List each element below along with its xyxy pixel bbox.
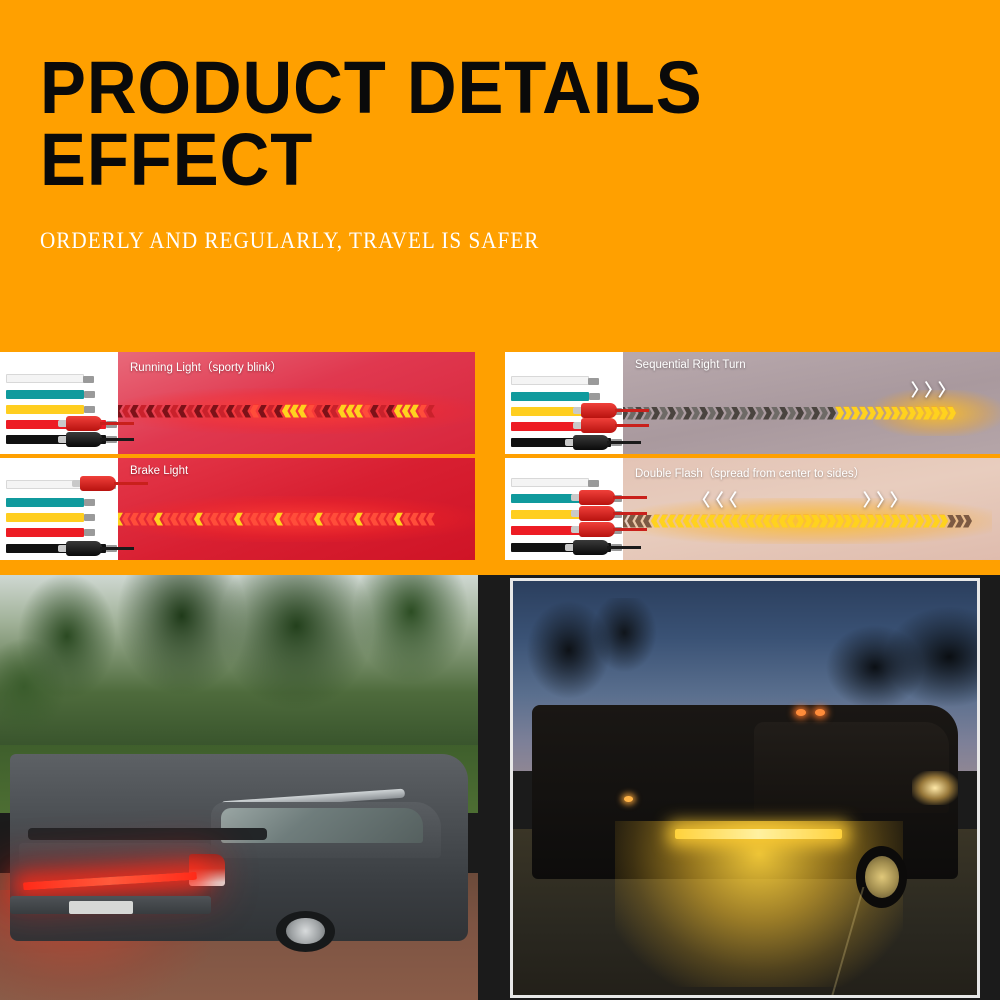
led-chevron bbox=[867, 515, 876, 528]
alligator-clip-red-2 bbox=[573, 418, 617, 433]
led-chevron bbox=[923, 407, 932, 420]
led-chevron bbox=[811, 407, 820, 420]
led-chevron bbox=[683, 515, 692, 528]
photo-pickup-tailgate-red bbox=[0, 575, 478, 1000]
wire-tip bbox=[84, 406, 95, 413]
led-chevron bbox=[290, 513, 299, 526]
led-chevron bbox=[386, 405, 395, 418]
led-chevron bbox=[274, 513, 283, 526]
led-chevron bbox=[178, 405, 187, 418]
led-chevron bbox=[675, 515, 684, 528]
effect-scene-brake-light: Brake Light bbox=[118, 458, 475, 560]
alligator-clip-red-1 bbox=[571, 490, 615, 505]
led-chevron bbox=[242, 405, 251, 418]
wire-yellow bbox=[6, 405, 84, 414]
led-chevron bbox=[162, 513, 171, 526]
led-chevron bbox=[338, 513, 347, 526]
led-chevron bbox=[330, 513, 339, 526]
led-chevron bbox=[931, 407, 940, 420]
led-chevron bbox=[875, 407, 884, 420]
panel-sequential-right-turn[interactable]: Sequential Right Turn 〉〉〉 bbox=[505, 352, 1000, 454]
led-chevron bbox=[723, 407, 732, 420]
led-chevron bbox=[370, 405, 379, 418]
wire-tip bbox=[588, 480, 599, 487]
led-chevron bbox=[122, 513, 131, 526]
led-chevron bbox=[394, 405, 403, 418]
led-chevron bbox=[298, 513, 307, 526]
truck-body bbox=[10, 754, 469, 941]
panel-label-brake-light: Brake Light bbox=[130, 465, 188, 477]
led-chevron bbox=[819, 407, 828, 420]
photo-truck-underglow-amber bbox=[510, 578, 980, 998]
led-chevron bbox=[771, 407, 780, 420]
led-chevron bbox=[194, 405, 203, 418]
led-chevron bbox=[931, 515, 940, 528]
led-chevron bbox=[330, 405, 339, 418]
wire-tip bbox=[84, 499, 95, 506]
led-chevron bbox=[170, 513, 179, 526]
led-chevron bbox=[202, 405, 211, 418]
led-chevron bbox=[346, 405, 355, 418]
led-chevron bbox=[843, 407, 852, 420]
wire-tip bbox=[84, 514, 95, 521]
led-chevron bbox=[418, 513, 427, 526]
effect-scene-double-flash: Double Flash（spread from center to sides… bbox=[623, 458, 1000, 560]
led-chevron bbox=[659, 515, 668, 528]
led-chevron bbox=[747, 407, 756, 420]
wire-yellow bbox=[6, 513, 84, 522]
led-chevron bbox=[242, 513, 251, 526]
page-title: PRODUCT DETAILS EFFECT bbox=[40, 52, 940, 196]
led-chevron bbox=[963, 515, 972, 528]
led-chevron bbox=[162, 405, 171, 418]
led-chevron bbox=[835, 515, 844, 528]
led-chevron bbox=[122, 405, 131, 418]
led-chevron bbox=[354, 513, 363, 526]
led-chevron bbox=[803, 407, 812, 420]
panel-column-left: Running Light（sporty blink） Brake Light bbox=[0, 352, 475, 560]
led-chevron bbox=[314, 405, 323, 418]
led-chevron bbox=[402, 405, 411, 418]
wire-white bbox=[511, 478, 589, 487]
page-subtitle: ORDERLY AND REGULARLY, TRAVEL IS SAFER bbox=[40, 228, 539, 254]
direction-arrows-left: 〈〈〈 bbox=[693, 486, 742, 511]
led-chevron bbox=[138, 405, 147, 418]
led-chevron bbox=[426, 513, 435, 526]
direction-arrows-right: 〉〉〉 bbox=[863, 486, 912, 511]
roof-marker-light-2 bbox=[815, 709, 825, 716]
wire-tip bbox=[588, 378, 599, 385]
truck-tailgate bbox=[19, 843, 212, 899]
led-chevron bbox=[258, 405, 267, 418]
led-chevron bbox=[699, 515, 708, 528]
led-chevron bbox=[186, 405, 195, 418]
led-chevron bbox=[947, 407, 956, 420]
led-chevron bbox=[907, 407, 916, 420]
led-light-bar-amber bbox=[675, 829, 842, 839]
led-chevron bbox=[955, 515, 964, 528]
led-chevron bbox=[186, 513, 195, 526]
led-chevron bbox=[891, 515, 900, 528]
led-chevron bbox=[851, 515, 860, 528]
led-chevron bbox=[835, 407, 844, 420]
led-chevron bbox=[699, 407, 708, 420]
led-chevron bbox=[282, 405, 291, 418]
led-chevron bbox=[779, 515, 788, 528]
led-chevron bbox=[282, 513, 291, 526]
led-chevron bbox=[811, 515, 820, 528]
led-chevron bbox=[771, 515, 780, 528]
headlight-glow bbox=[912, 771, 958, 804]
side-marker-light bbox=[624, 796, 632, 802]
panel-column-right: Sequential Right Turn 〉〉〉 Double Flash（s… bbox=[505, 352, 1000, 560]
wire-tip bbox=[589, 393, 600, 400]
led-chevron bbox=[274, 405, 283, 418]
led-strip-sequential bbox=[623, 404, 996, 422]
led-chevron bbox=[635, 515, 644, 528]
led-chevron bbox=[426, 405, 435, 418]
panel-label-running-light: Running Light（sporty blink） bbox=[130, 359, 282, 375]
wire-tip bbox=[83, 376, 94, 383]
wire-red bbox=[6, 528, 84, 537]
led-strip-double-flash bbox=[623, 512, 996, 530]
led-chevron bbox=[667, 515, 676, 528]
wire-teal bbox=[511, 392, 589, 401]
photo-gallery bbox=[0, 575, 1000, 1000]
led-chevron bbox=[234, 405, 243, 418]
led-chevron bbox=[891, 407, 900, 420]
led-chevron bbox=[266, 513, 275, 526]
led-chevron bbox=[843, 515, 852, 528]
led-chevron bbox=[939, 515, 948, 528]
wheel-rim bbox=[865, 856, 900, 898]
led-chevron bbox=[386, 513, 395, 526]
led-chevron bbox=[258, 513, 267, 526]
wire-white bbox=[511, 376, 589, 385]
led-chevron bbox=[763, 515, 772, 528]
led-chevron bbox=[250, 405, 259, 418]
led-chevron bbox=[731, 407, 740, 420]
led-chevron bbox=[779, 407, 788, 420]
led-chevron bbox=[154, 405, 163, 418]
led-chevron bbox=[659, 407, 668, 420]
led-chevron bbox=[266, 405, 275, 418]
led-chevron bbox=[146, 405, 155, 418]
led-chevron bbox=[402, 513, 411, 526]
alligator-clip-red-3 bbox=[571, 522, 615, 537]
led-chevron bbox=[130, 405, 139, 418]
alligator-clip-red bbox=[72, 476, 116, 491]
led-chevron bbox=[178, 513, 187, 526]
header-banner: PRODUCT DETAILS EFFECT ORDERLY AND REGUL… bbox=[0, 0, 1000, 340]
led-chevron bbox=[250, 513, 259, 526]
led-chevron bbox=[202, 513, 211, 526]
wire-teal bbox=[6, 498, 84, 507]
led-chevron bbox=[739, 407, 748, 420]
title-line-1: PRODUCT DETAILS bbox=[40, 52, 877, 124]
led-chevron bbox=[651, 407, 660, 420]
led-chevron bbox=[322, 513, 331, 526]
led-chevron bbox=[194, 513, 203, 526]
alligator-clip-red-2 bbox=[571, 506, 615, 521]
led-chevron bbox=[923, 515, 932, 528]
led-chevron bbox=[675, 407, 684, 420]
led-chevron bbox=[394, 513, 403, 526]
led-chevron bbox=[362, 513, 371, 526]
led-chevron bbox=[707, 515, 716, 528]
led-strip-brake bbox=[118, 510, 471, 528]
led-chevron bbox=[314, 513, 323, 526]
direction-arrows-right: 〉〉〉 bbox=[911, 376, 960, 401]
led-chevron bbox=[755, 407, 764, 420]
led-chevron bbox=[683, 407, 692, 420]
led-chevron bbox=[306, 513, 315, 526]
led-chevron bbox=[234, 513, 243, 526]
effect-panel-grid: Running Light（sporty blink） Brake Light bbox=[0, 352, 1000, 560]
wire-tip bbox=[84, 529, 95, 536]
led-chevron bbox=[947, 515, 956, 528]
led-chevron bbox=[346, 513, 355, 526]
led-chevron bbox=[418, 405, 427, 418]
led-chevron bbox=[787, 515, 796, 528]
alligator-clip-black bbox=[58, 432, 102, 447]
led-chevron bbox=[130, 513, 139, 526]
led-chevron bbox=[851, 407, 860, 420]
led-chevron bbox=[787, 407, 796, 420]
panel-brake-light[interactable]: Brake Light bbox=[0, 458, 475, 560]
led-chevron bbox=[859, 407, 868, 420]
led-chevron bbox=[226, 405, 235, 418]
led-chevron bbox=[715, 515, 724, 528]
led-chevron bbox=[226, 513, 235, 526]
led-chevron bbox=[154, 513, 163, 526]
led-chevron bbox=[290, 405, 299, 418]
led-chevron bbox=[218, 513, 227, 526]
led-chevron bbox=[146, 513, 155, 526]
led-chevron bbox=[138, 513, 147, 526]
led-strip-running bbox=[118, 402, 471, 420]
led-chevron bbox=[410, 405, 419, 418]
wheel-rim bbox=[286, 918, 324, 944]
truck-taillight bbox=[189, 854, 226, 886]
wire-teal bbox=[6, 390, 84, 399]
wire-tip bbox=[84, 391, 95, 398]
led-chevron bbox=[803, 515, 812, 528]
led-chevron bbox=[859, 515, 868, 528]
led-chevron bbox=[715, 407, 724, 420]
panel-label-sequential-right-turn: Sequential Right Turn bbox=[635, 359, 746, 371]
led-chevron bbox=[755, 515, 764, 528]
led-chevron bbox=[907, 515, 916, 528]
led-chevron bbox=[747, 515, 756, 528]
led-chevron bbox=[795, 515, 804, 528]
led-chevron bbox=[827, 407, 836, 420]
led-chevron bbox=[915, 515, 924, 528]
led-chevron bbox=[875, 515, 884, 528]
panel-label-double-flash: Double Flash（spread from center to sides… bbox=[635, 465, 865, 481]
led-chevron bbox=[210, 513, 219, 526]
led-chevron bbox=[370, 513, 379, 526]
led-chevron bbox=[867, 407, 876, 420]
truck-bed-rail bbox=[28, 828, 267, 839]
led-chevron bbox=[691, 515, 700, 528]
led-chevron bbox=[298, 405, 307, 418]
truck-wheel-rear bbox=[276, 911, 336, 952]
led-chevron bbox=[651, 515, 660, 528]
panel-double-flash[interactable]: Double Flash（spread from center to sides… bbox=[505, 458, 1000, 560]
led-chevron bbox=[667, 407, 676, 420]
effect-scene-running-light: Running Light（sporty blink） bbox=[118, 352, 475, 454]
led-chevron bbox=[627, 515, 636, 528]
led-chevron bbox=[723, 515, 732, 528]
led-chevron bbox=[378, 405, 387, 418]
license-plate bbox=[69, 901, 133, 914]
led-chevron bbox=[210, 405, 219, 418]
led-chevron bbox=[883, 515, 892, 528]
led-chevron bbox=[691, 407, 700, 420]
led-chevron bbox=[354, 405, 363, 418]
led-chevron bbox=[338, 405, 347, 418]
led-chevron bbox=[707, 407, 716, 420]
led-chevron bbox=[827, 515, 836, 528]
panel-running-light[interactable]: Running Light（sporty blink） bbox=[0, 352, 475, 454]
led-chevron bbox=[378, 513, 387, 526]
title-line-2: EFFECT bbox=[40, 124, 877, 196]
led-chevron bbox=[763, 407, 772, 420]
alligator-clip-black bbox=[58, 541, 102, 556]
wire-white bbox=[6, 374, 84, 383]
led-chevron bbox=[795, 407, 804, 420]
led-chevron bbox=[899, 515, 908, 528]
led-chevron bbox=[410, 513, 419, 526]
alligator-clip-red-1 bbox=[573, 403, 617, 418]
led-chevron bbox=[306, 405, 315, 418]
led-chevron bbox=[218, 405, 227, 418]
led-chevron bbox=[739, 515, 748, 528]
led-chevron bbox=[362, 405, 371, 418]
led-chevron bbox=[643, 515, 652, 528]
led-chevron bbox=[883, 407, 892, 420]
led-chevron bbox=[899, 407, 908, 420]
alligator-clip-black bbox=[565, 435, 609, 450]
alligator-clip-black bbox=[565, 540, 609, 555]
led-chevron bbox=[819, 515, 828, 528]
led-chevron bbox=[170, 405, 179, 418]
amber-light-pool bbox=[615, 821, 903, 987]
effect-scene-sequential-right-turn: Sequential Right Turn 〉〉〉 bbox=[623, 352, 1000, 454]
led-chevron bbox=[915, 407, 924, 420]
alligator-clip-red bbox=[58, 416, 102, 431]
led-chevron bbox=[322, 405, 331, 418]
led-chevron bbox=[939, 407, 948, 420]
led-chevron bbox=[731, 515, 740, 528]
